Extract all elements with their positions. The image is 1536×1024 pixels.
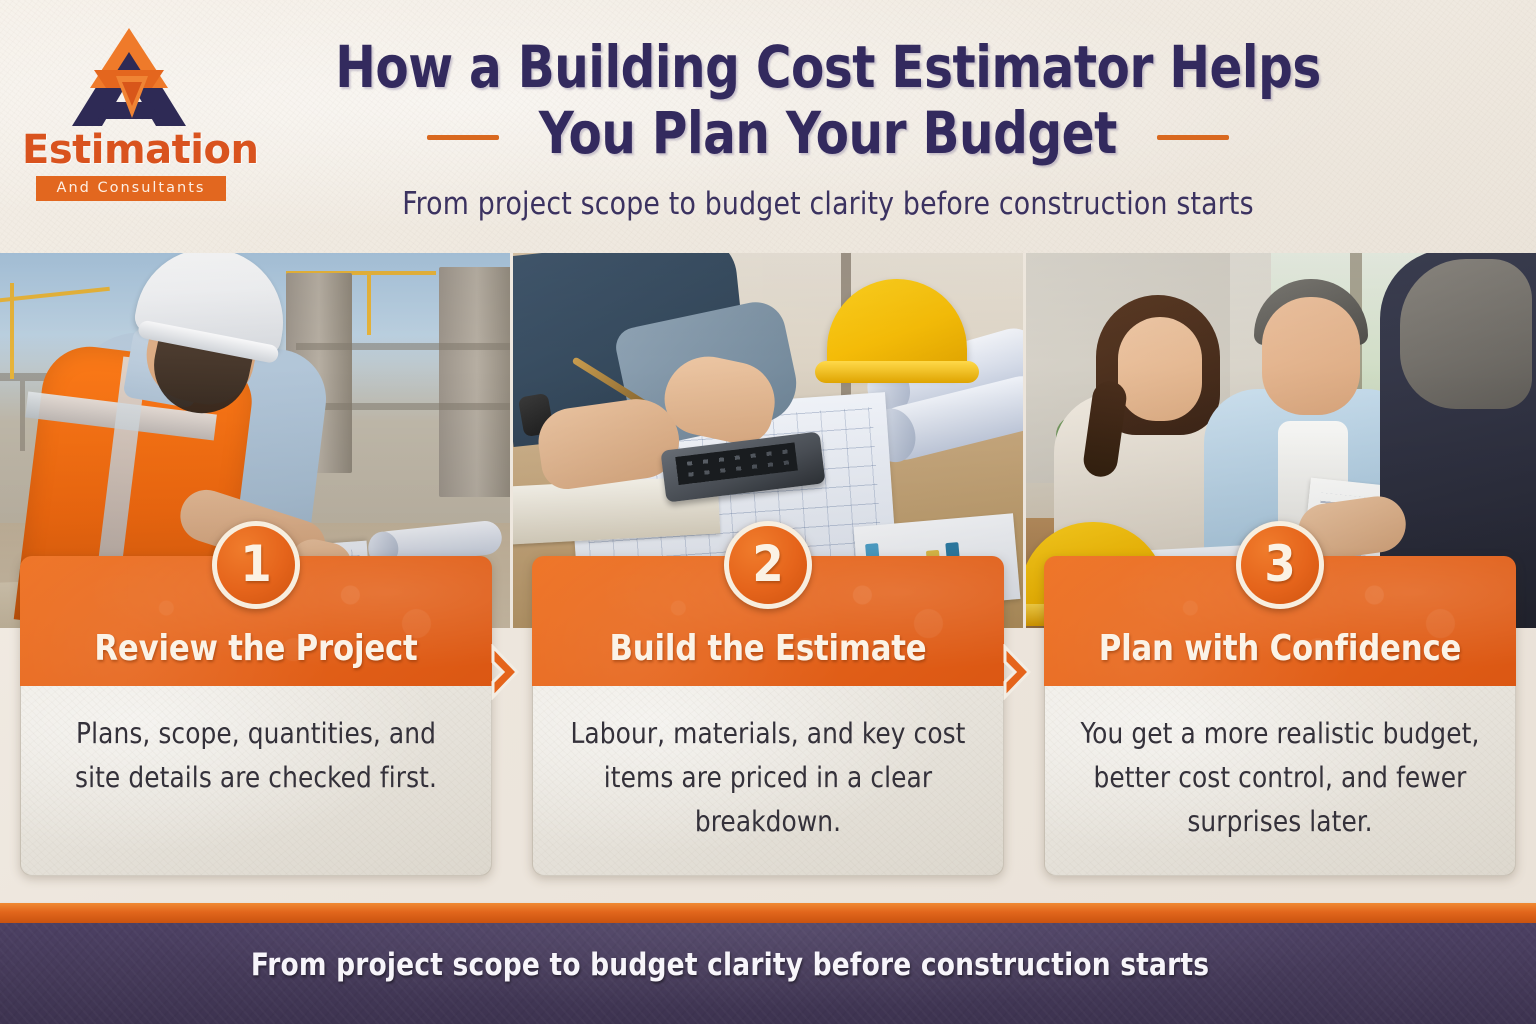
header-section: Estimation And Consultants How a Buildin… xyxy=(0,0,1536,253)
chevron-right-icon xyxy=(489,644,535,700)
brand-name: Estimation xyxy=(22,130,234,170)
step-card-3[interactable]: Plan with Confidence 3 You get a more re… xyxy=(1044,556,1516,876)
step-badge-1-number: 1 xyxy=(240,539,271,589)
card-slot-2: Build the Estimate 2 Labour, materials, … xyxy=(512,556,1024,876)
step-badge-3: 3 xyxy=(1236,521,1324,609)
triangle-a-monogram-icon xyxy=(64,26,194,134)
title-dash-left-icon xyxy=(427,135,499,140)
title-dash-right-icon xyxy=(1157,135,1229,140)
step-card-1[interactable]: Review the Project 1 Plans, scope, quant… xyxy=(20,556,492,876)
page-title: How a Building Cost Estimator Helps You … xyxy=(248,34,1408,166)
card-slot-3: Plan with Confidence 3 You get a more re… xyxy=(1024,556,1536,876)
step-card-2-text: Labour, materials, and key cost items ar… xyxy=(565,712,970,844)
step-card-3-body: You get a more realistic budget, better … xyxy=(1044,686,1516,876)
step-card-1-title: Review the Project xyxy=(39,628,472,670)
step-card-1-body: Plans, scope, quantities, and site detai… xyxy=(20,686,492,876)
footer-section: From project scope to budget clarity bef… xyxy=(0,923,1536,1024)
step-card-2-title: Build the Estimate xyxy=(551,628,984,670)
brand-tagline: And Consultants xyxy=(36,176,226,201)
title-line-2: You Plan Your Budget xyxy=(539,100,1117,166)
title-line-1: How a Building Cost Estimator Helps xyxy=(289,34,1368,100)
step-badge-3-number: 3 xyxy=(1264,539,1295,589)
page-subtitle: From project scope to budget clarity bef… xyxy=(271,186,1385,222)
footer-tagline: From project scope to budget clarity bef… xyxy=(37,947,1424,983)
step-cards: Review the Project 1 Plans, scope, quant… xyxy=(0,556,1536,876)
card-slot-1: Review the Project 1 Plans, scope, quant… xyxy=(0,556,512,876)
title-line-2-row: You Plan Your Budget xyxy=(248,100,1408,166)
step-badge-2: 2 xyxy=(724,521,812,609)
infographic-page: Estimation And Consultants How a Buildin… xyxy=(0,0,1536,1024)
step-card-2[interactable]: Build the Estimate 2 Labour, materials, … xyxy=(532,556,1004,876)
step-badge-1: 1 xyxy=(212,521,300,609)
footer-accent-stripe xyxy=(0,903,1536,923)
brand-logo[interactable]: Estimation And Consultants xyxy=(22,26,234,194)
step-card-3-text: You get a more realistic budget, better … xyxy=(1077,712,1482,844)
step-badge-2-number: 2 xyxy=(752,539,783,589)
step-card-1-text: Plans, scope, quantities, and site detai… xyxy=(53,712,458,800)
step-card-2-body: Labour, materials, and key cost items ar… xyxy=(532,686,1004,876)
chevron-right-icon xyxy=(1001,644,1047,700)
step-card-3-title: Plan with Confidence xyxy=(1063,628,1496,670)
